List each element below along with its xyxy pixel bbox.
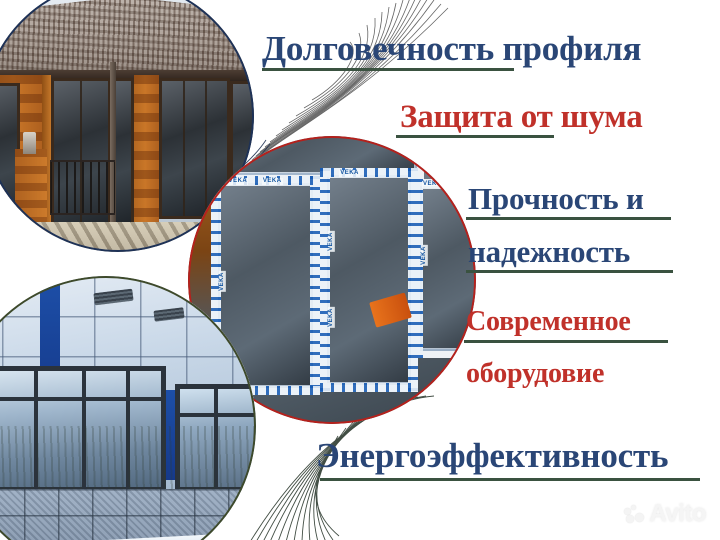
headline-rule-5 — [464, 340, 668, 343]
veka-brand-mark: VEKA — [420, 245, 427, 266]
poster-canvas: VEKA VEKA VEKA VEKA VEKA VEKA — [0, 0, 720, 540]
headline-energy-efficiency: Энергоэффективность — [316, 438, 668, 473]
veka-brand-mark: VEKA — [262, 178, 283, 185]
veka-brand-mark: VEKA — [328, 231, 335, 252]
headline-rule-7 — [320, 478, 700, 481]
headline-rule-2 — [396, 135, 554, 138]
headline-rule-3 — [466, 217, 671, 220]
headline-rule-1 — [262, 68, 514, 71]
photo-circle-modern-facade — [0, 276, 256, 540]
avito-wordmark: Avito — [649, 500, 706, 528]
avito-watermark: Avito — [624, 500, 706, 528]
headline-strength-line1: Прочность и — [468, 183, 644, 214]
veka-brand-mark: VEKA — [422, 181, 443, 188]
headline-durability: Долговечность профиля — [262, 31, 641, 66]
avito-dots-icon — [624, 505, 644, 523]
headline-rule-4 — [466, 270, 673, 273]
headline-strength-line2: надежность — [468, 236, 630, 267]
headline-noise-protection: Защита от шума — [400, 101, 643, 134]
veka-brand-mark: VEKA — [328, 307, 335, 328]
headline-modern-equipment-line1: Современное — [466, 308, 631, 336]
veka-brand-mark: VEKA — [339, 170, 360, 177]
modern-facade-photo — [0, 276, 256, 540]
veka-brand-mark: VEKA — [228, 178, 249, 185]
headline-modern-equipment-line2: оборудовие — [466, 360, 604, 388]
